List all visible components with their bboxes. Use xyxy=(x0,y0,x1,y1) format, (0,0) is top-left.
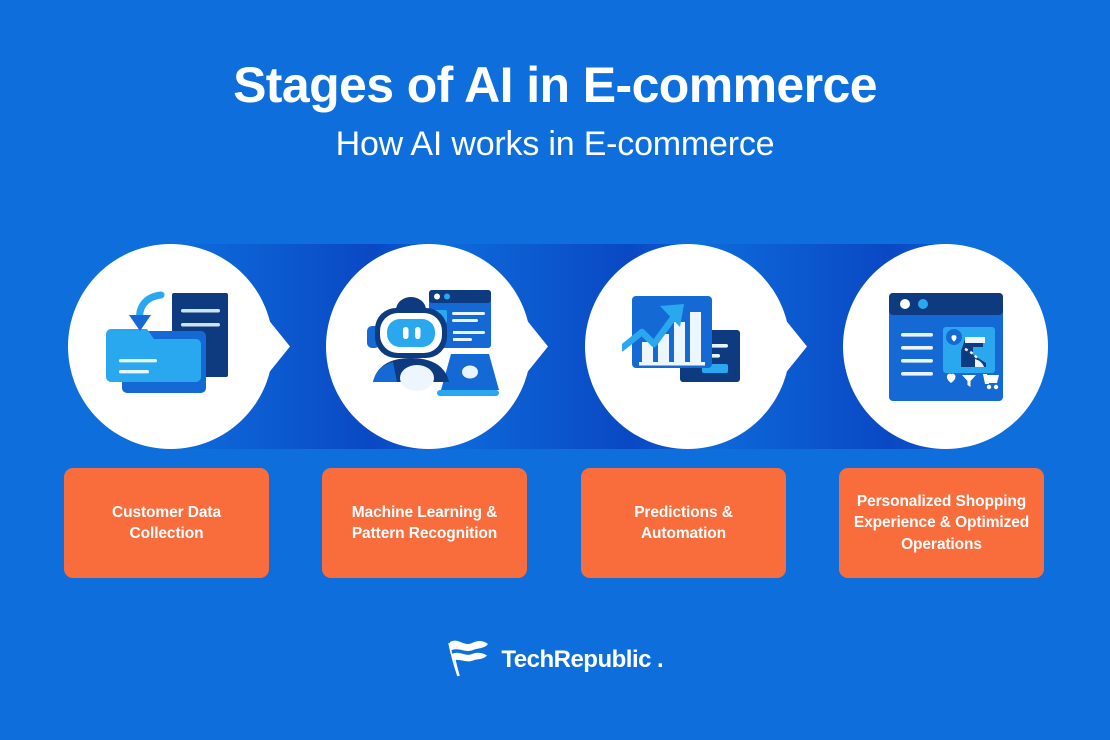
stage-label-text-4: Personalized ShoppingExperience & Optimi… xyxy=(854,491,1029,555)
stage-label-box-3[interactable]: Predictions &Automation xyxy=(581,468,786,578)
online-store-product-icon xyxy=(843,244,1048,449)
stage-labels: Customer DataCollection Machine Learning… xyxy=(0,468,1110,580)
stages-flow xyxy=(0,244,1110,449)
stage-label-box-1[interactable]: Customer DataCollection xyxy=(64,468,269,578)
stage-circle-4[interactable] xyxy=(843,244,1048,449)
stage-circle-1[interactable] xyxy=(68,244,273,449)
robot-laptop-icon xyxy=(326,244,531,449)
bar-chart-growth-icon xyxy=(585,244,790,449)
page-title: Stages of AI in E-commerce xyxy=(0,58,1110,112)
documents-download-icon xyxy=(68,244,273,449)
techrepublic-wave-flag-icon xyxy=(446,636,492,683)
header: Stages of AI in E-commerce How AI works … xyxy=(0,0,1110,163)
stage-label-text-3: Predictions &Automation xyxy=(634,502,733,545)
stage-label-text-2: Machine Learning &Pattern Recognition xyxy=(352,502,497,545)
stage-label-box-2[interactable]: Machine Learning &Pattern Recognition xyxy=(322,468,527,578)
brand-name: TechRepublic xyxy=(501,646,651,674)
brand-suffix: . xyxy=(657,646,664,674)
stage-circle-2[interactable] xyxy=(326,244,531,449)
page-subtitle: How AI works in E-commerce xyxy=(0,126,1110,163)
footer-logo[interactable]: TechRepublic . xyxy=(0,636,1110,683)
stage-label-box-4[interactable]: Personalized ShoppingExperience & Optimi… xyxy=(839,468,1044,578)
stage-label-text-1: Customer DataCollection xyxy=(112,502,221,545)
stage-circle-3[interactable] xyxy=(585,244,790,449)
